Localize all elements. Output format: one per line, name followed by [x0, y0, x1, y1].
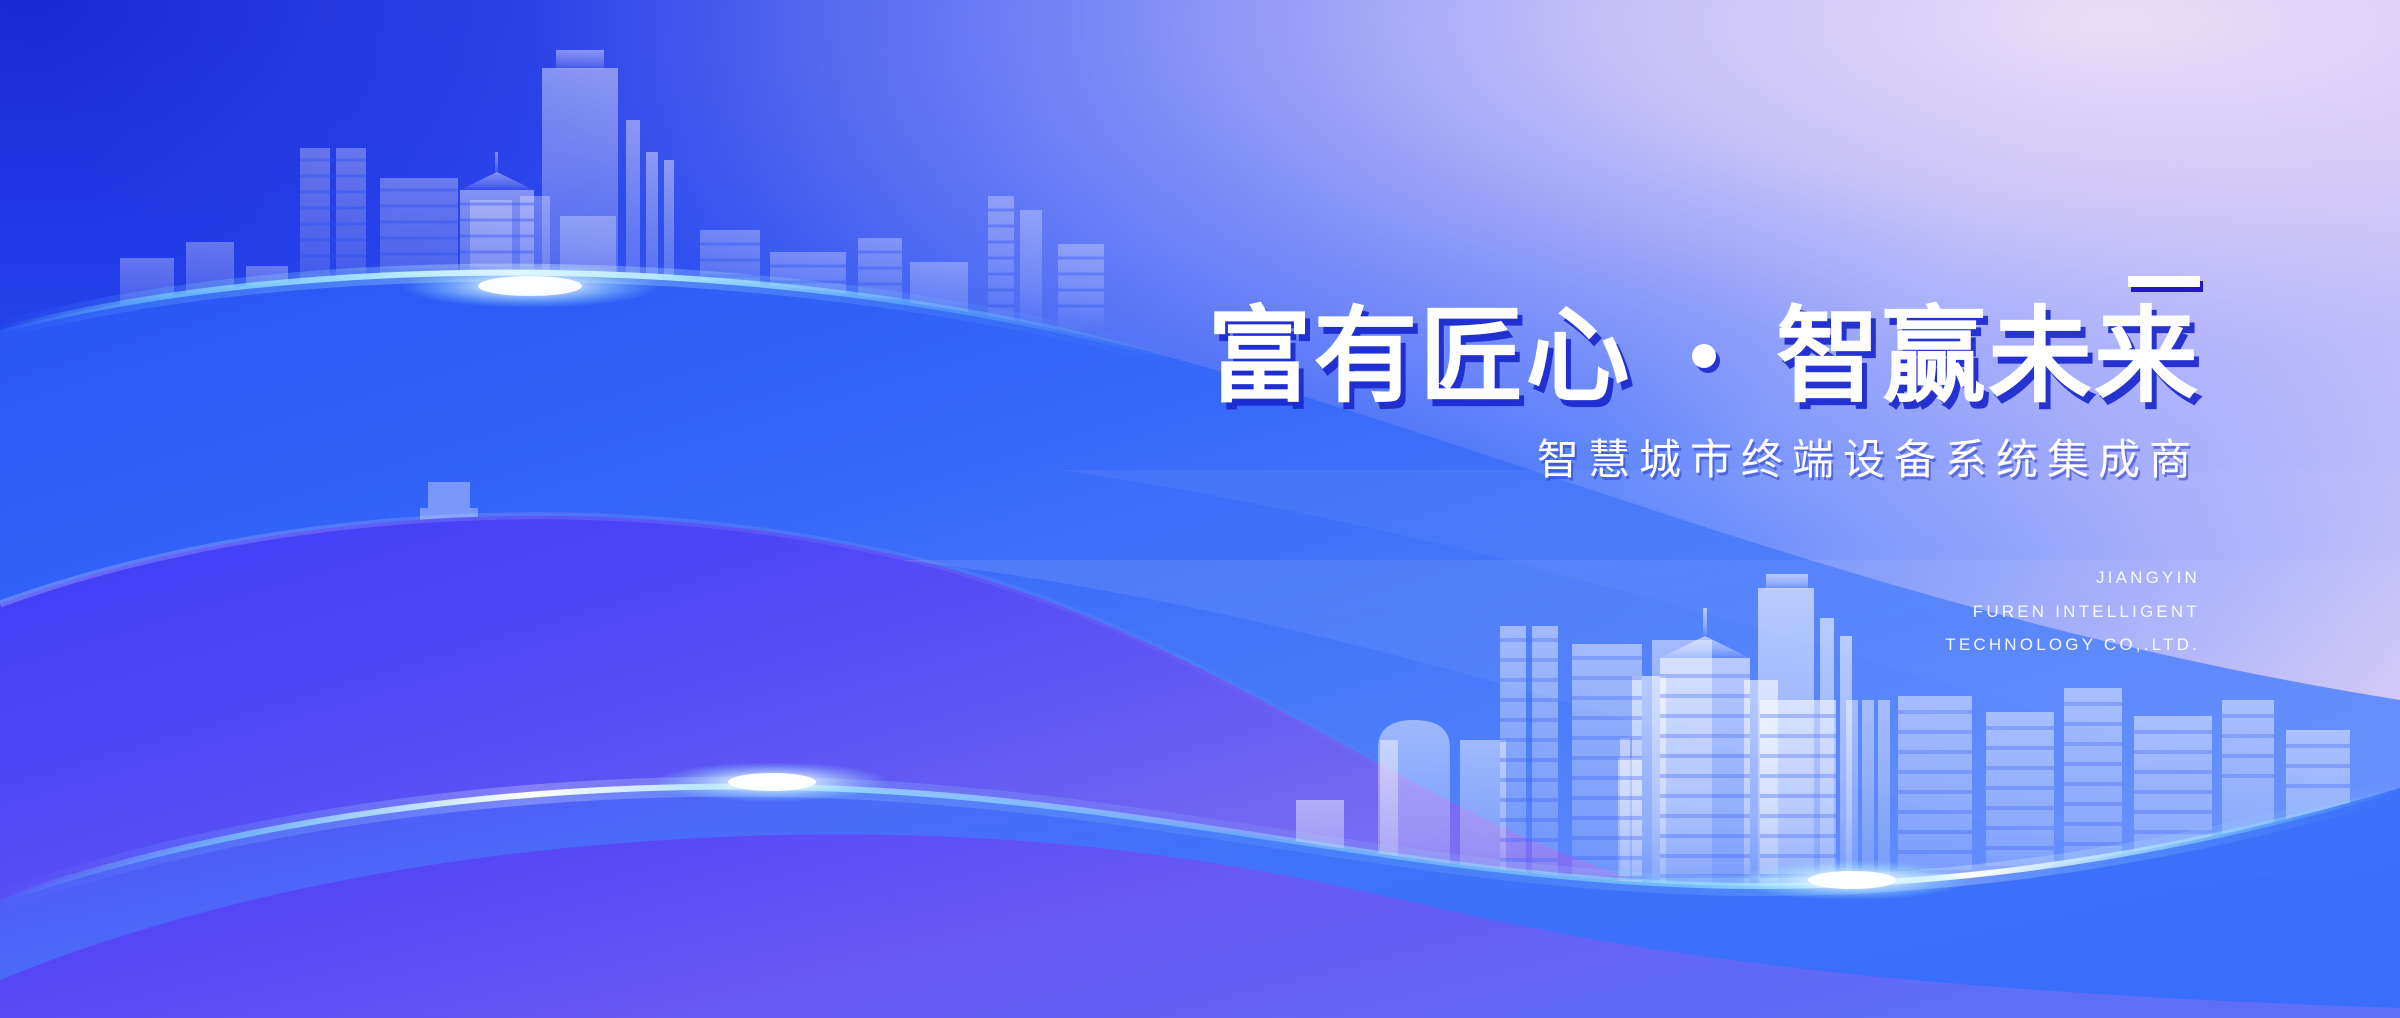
company-name-block: JIANGYIN FUREN INTELLIGENT TECHNOLOGY CO…	[0, 561, 2200, 660]
page-subtitle: 智慧城市终端设备系统集成商	[0, 437, 2200, 483]
headline-text-block: 富有匠心 智赢未来 智慧城市终端设备系统集成商 JIANGYIN FUREN I…	[0, 0, 2200, 661]
headline-separator-dot	[1692, 344, 1716, 368]
accent-dash	[2128, 276, 2200, 287]
page-title: 富有匠心 智赢未来	[0, 301, 2200, 411]
company-line-3: TECHNOLOGY CO,.LTD.	[0, 628, 2200, 661]
company-line-1: JIANGYIN	[0, 561, 2200, 594]
headline-left: 富有匠心	[1208, 295, 1632, 417]
promo-banner: 富有匠心 智赢未来 智慧城市终端设备系统集成商 JIANGYIN FUREN I…	[0, 0, 2400, 1018]
company-line-2: FUREN INTELLIGENT	[0, 595, 2200, 628]
headline-right: 智赢未来	[1776, 295, 2200, 417]
